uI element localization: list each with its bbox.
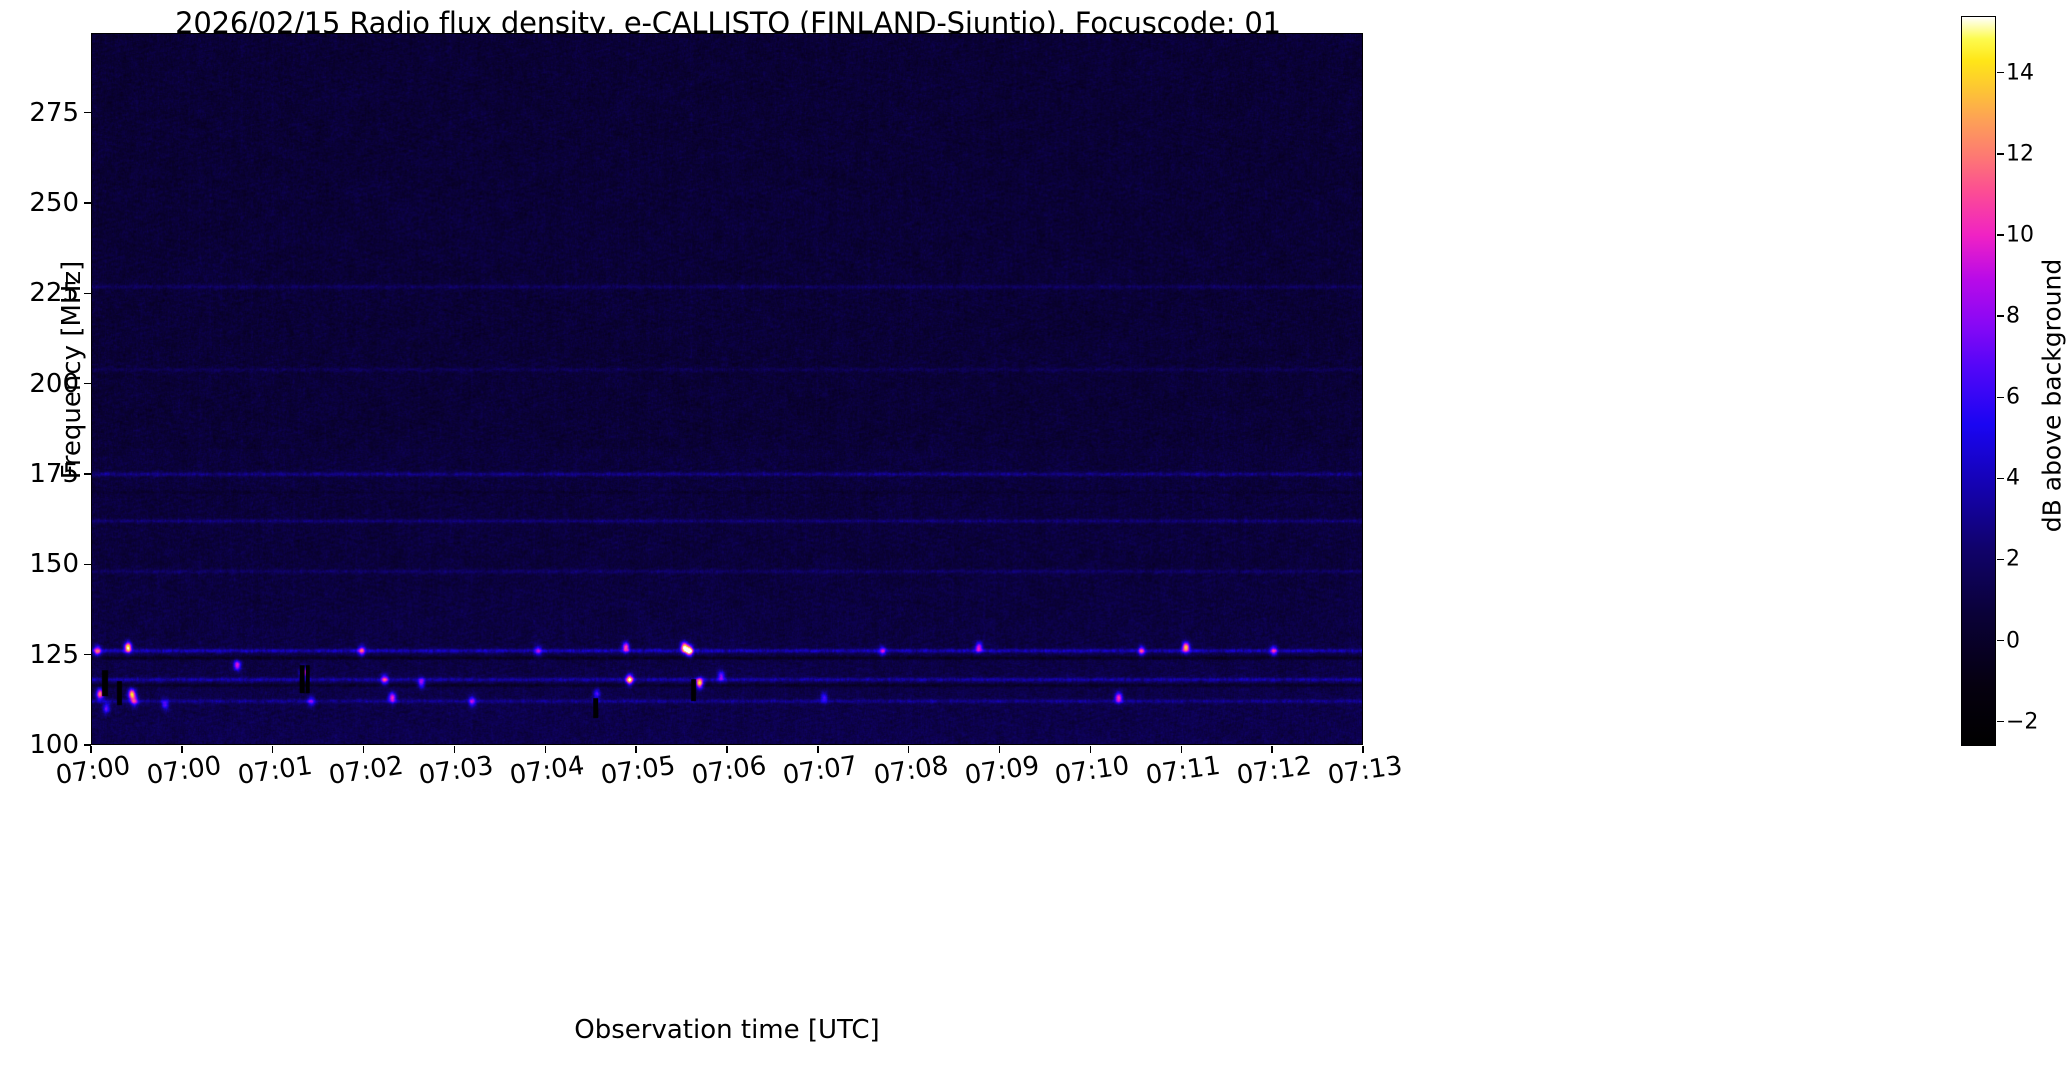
- colorbar-tick-label: 14: [2006, 60, 2034, 85]
- x-axis-tick-mark: [635, 746, 636, 753]
- colorbar-label: dB above background: [2038, 31, 2066, 761]
- colorbar-tick-label: −2: [2006, 709, 2038, 734]
- colorbar-gradient: [1962, 17, 1995, 745]
- y-axis-tick-mark: [84, 383, 91, 384]
- colorbar-tick-label: 4: [2006, 466, 2020, 491]
- y-axis-tick-label: 125: [0, 640, 79, 670]
- colorbar-tick-mark: [1997, 315, 2004, 316]
- colorbar-tick-label: 8: [2006, 304, 2020, 329]
- colorbar-tick-mark: [1997, 72, 2004, 73]
- x-axis-tick-mark: [999, 746, 1000, 753]
- colorbar-tick-mark: [1997, 153, 2004, 154]
- colorbar-tick-mark: [1997, 397, 2004, 398]
- y-axis-tick-label: 100: [0, 730, 79, 760]
- x-axis-tick-mark: [908, 746, 909, 753]
- x-axis-tick-mark: [272, 746, 273, 753]
- x-axis-tick-mark: [1181, 746, 1182, 753]
- spectrogram-figure: 2026/02/15 Radio flux density, e-CALLIST…: [0, 0, 2066, 1067]
- colorbar-tick-label: 2: [2006, 547, 2020, 572]
- y-axis-tick-mark: [84, 564, 91, 565]
- x-axis-tick-mark: [1090, 746, 1091, 753]
- colorbar-tick-mark: [1997, 640, 2004, 641]
- spectrogram-image: [92, 34, 1362, 744]
- colorbar-tick-label: 10: [2006, 223, 2034, 248]
- x-axis-tick-mark: [1271, 746, 1272, 753]
- x-axis-tick-mark: [181, 746, 182, 753]
- colorbar-tick-label: 6: [2006, 385, 2020, 410]
- colorbar-tick-mark: [1997, 234, 2004, 235]
- y-axis-tick-mark: [84, 654, 91, 655]
- y-axis-tick-label: 150: [0, 549, 79, 579]
- colorbar-tick-mark: [1997, 721, 2004, 722]
- y-axis-tick-mark: [84, 293, 91, 294]
- x-axis-tick-mark: [817, 746, 818, 753]
- x-axis-tick-mark: [90, 746, 91, 753]
- y-axis-tick-label: 225: [0, 278, 79, 308]
- colorbar-tick-label: 0: [2006, 628, 2020, 653]
- colorbar: [1961, 16, 1996, 746]
- colorbar-tick-mark: [1997, 559, 2004, 560]
- y-axis-tick-label: 250: [0, 188, 79, 218]
- colorbar-tick-label: 12: [2006, 141, 2034, 166]
- y-axis-tick-label: 200: [0, 369, 79, 399]
- y-axis-tick-label: 175: [0, 459, 79, 489]
- y-axis-tick-mark: [84, 112, 91, 113]
- x-axis-label: Observation time [UTC]: [91, 1015, 1363, 1045]
- x-axis-tick-mark: [454, 746, 455, 753]
- x-axis-tick-mark: [1362, 746, 1363, 753]
- y-axis-tick-mark: [84, 473, 91, 474]
- x-axis-tick-mark: [545, 746, 546, 753]
- x-axis-tick-mark: [363, 746, 364, 753]
- x-axis-tick-mark: [726, 746, 727, 753]
- y-axis-tick-label: 275: [0, 98, 79, 128]
- y-axis-tick-mark: [84, 202, 91, 203]
- colorbar-tick-mark: [1997, 478, 2004, 479]
- spectrogram-plot-area: [91, 33, 1363, 745]
